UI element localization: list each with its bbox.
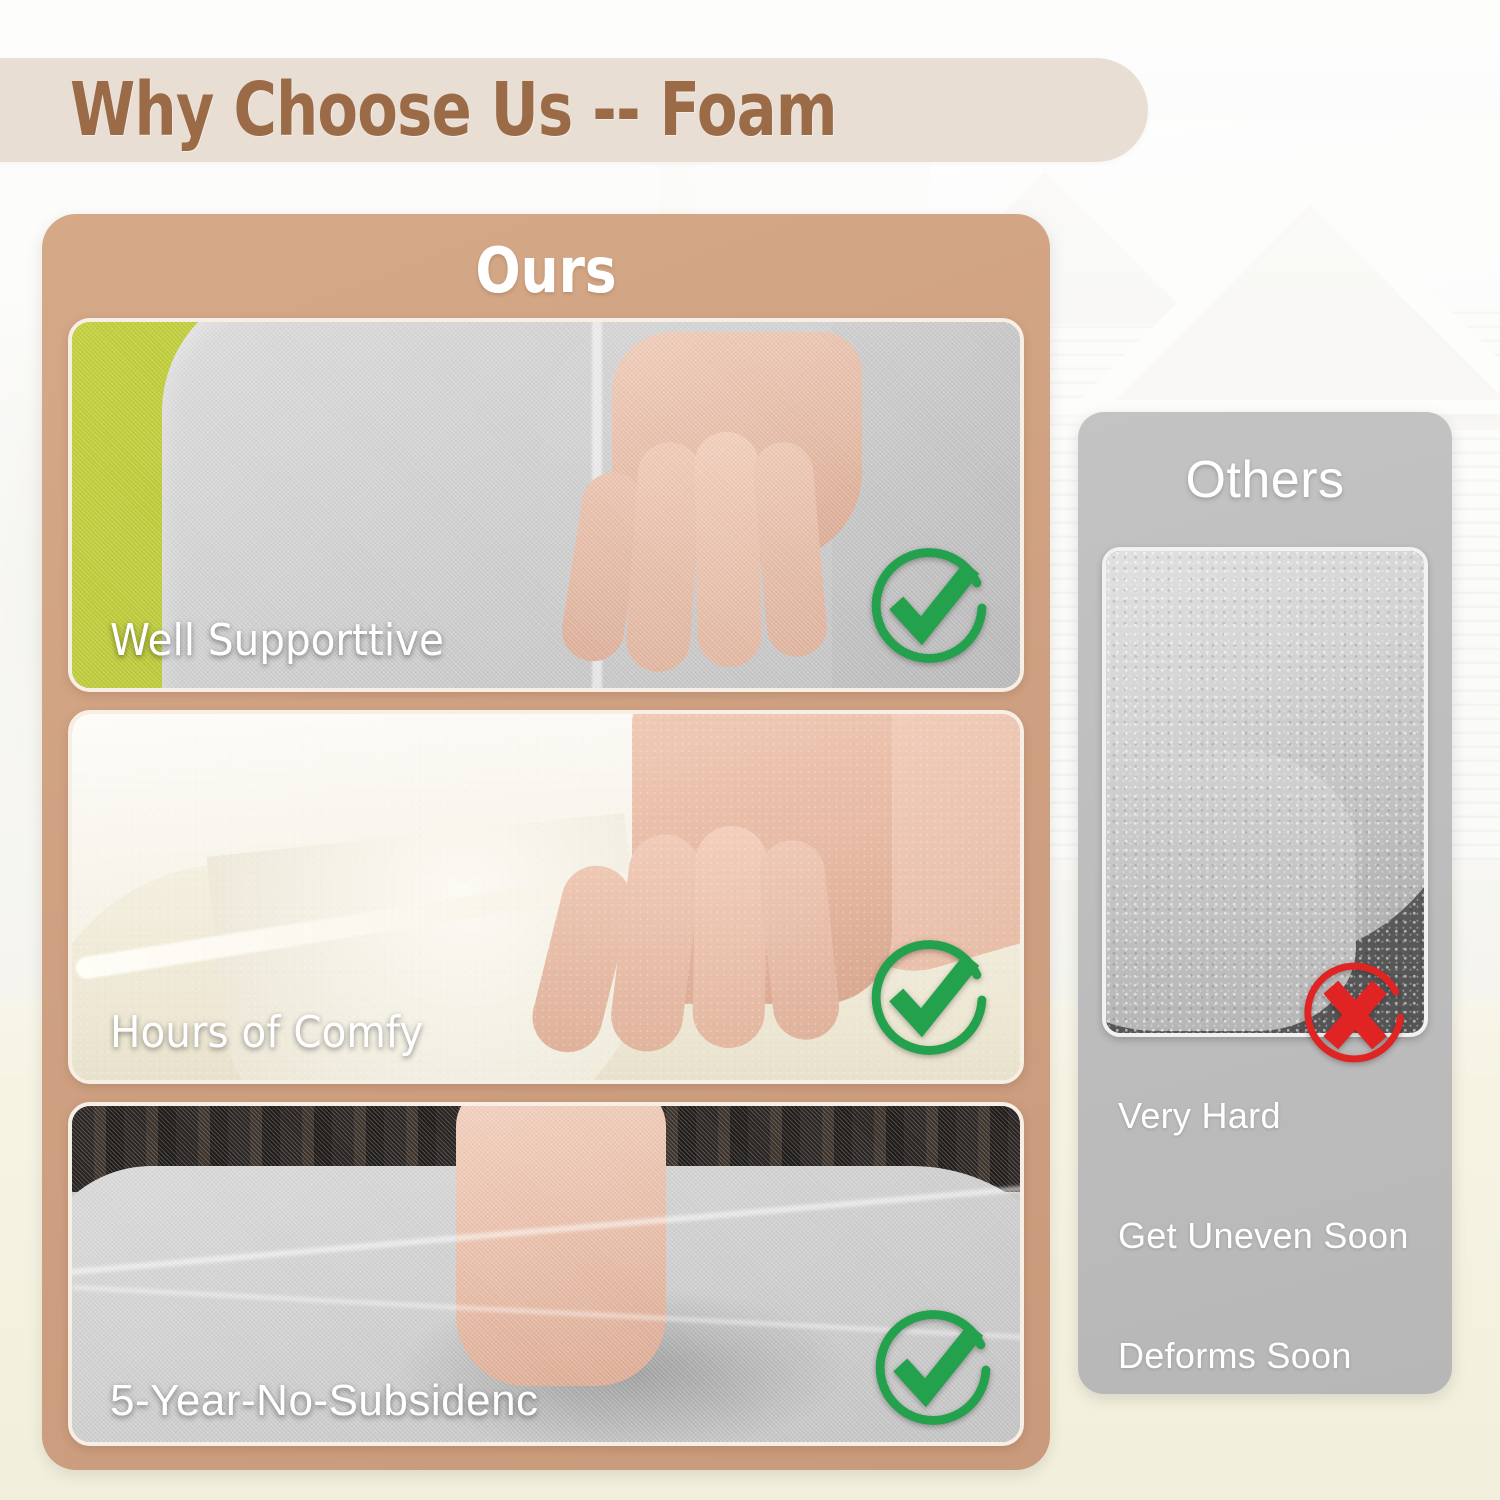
- others-panel-title: Others: [1078, 454, 1452, 506]
- ours-panel-title: Ours: [113, 240, 980, 302]
- check-icon: [866, 540, 992, 666]
- ours-feature-caption-3: 5-Year-No-Subsidenc: [110, 1376, 539, 1426]
- title-banner: Why Choose Us -- Foam: [0, 58, 1148, 162]
- infographic-canvas: Why Choose Us -- Foam Ours Well Supportt…: [0, 0, 1500, 1500]
- check-icon: [870, 1302, 996, 1428]
- ours-feature-caption-1: Well Supporttive: [110, 615, 444, 666]
- ours-feature-card-2: Hours of Comfy: [68, 710, 1024, 1084]
- ours-panel: Ours Well Supporttive: [42, 214, 1050, 1470]
- others-panel: Others Very Hard Get Uneven Soon Deforms…: [1078, 412, 1452, 1394]
- others-drawback-item: Deforms Soon: [1118, 1338, 1438, 1374]
- others-drawback-item: Very Hard: [1118, 1098, 1438, 1134]
- ours-feature-card-1: Well Supporttive: [68, 318, 1024, 692]
- ours-feature-caption-2: Hours of Comfy: [110, 1007, 423, 1058]
- check-icon: [866, 932, 992, 1058]
- others-drawback-item: Get Uneven Soon: [1118, 1218, 1438, 1254]
- page-title: Why Choose Us -- Foam: [70, 73, 837, 147]
- ours-feature-card-3: 5-Year-No-Subsidenc: [68, 1102, 1024, 1446]
- others-drawback-list: Very Hard Get Uneven Soon Deforms Soon: [1118, 1098, 1438, 1374]
- cross-icon: [1296, 957, 1412, 1073]
